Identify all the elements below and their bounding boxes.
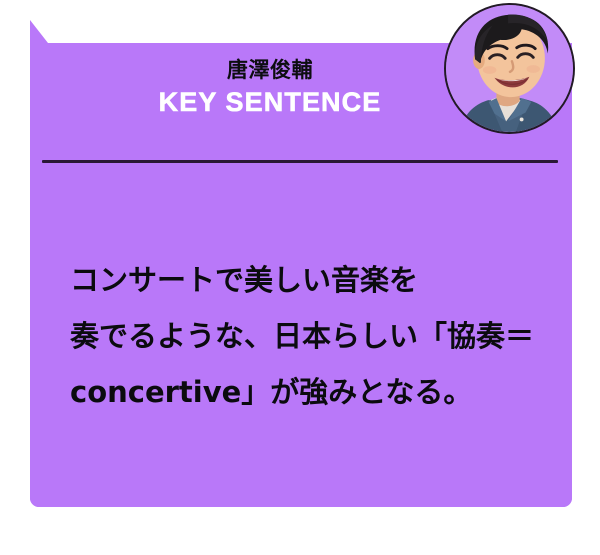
quote-line: 奏でるような、日本らしい「協奏＝ [70,308,550,364]
header-divider [42,160,558,163]
avatar-portrait-icon [446,5,573,132]
quote-block: コンサートで美しい音楽を 奏でるような、日本らしい「協奏＝ concertive… [70,252,550,420]
key-sentence-card: 唐澤俊輔 KEY SENTENCE コンサートで美しい音楽を 奏でるような、日本… [0,0,600,555]
avatar [444,3,575,134]
quote-line: コンサートで美しい音楽を [70,252,550,308]
quote-line: concertive」が強みとなる。 [70,364,550,420]
